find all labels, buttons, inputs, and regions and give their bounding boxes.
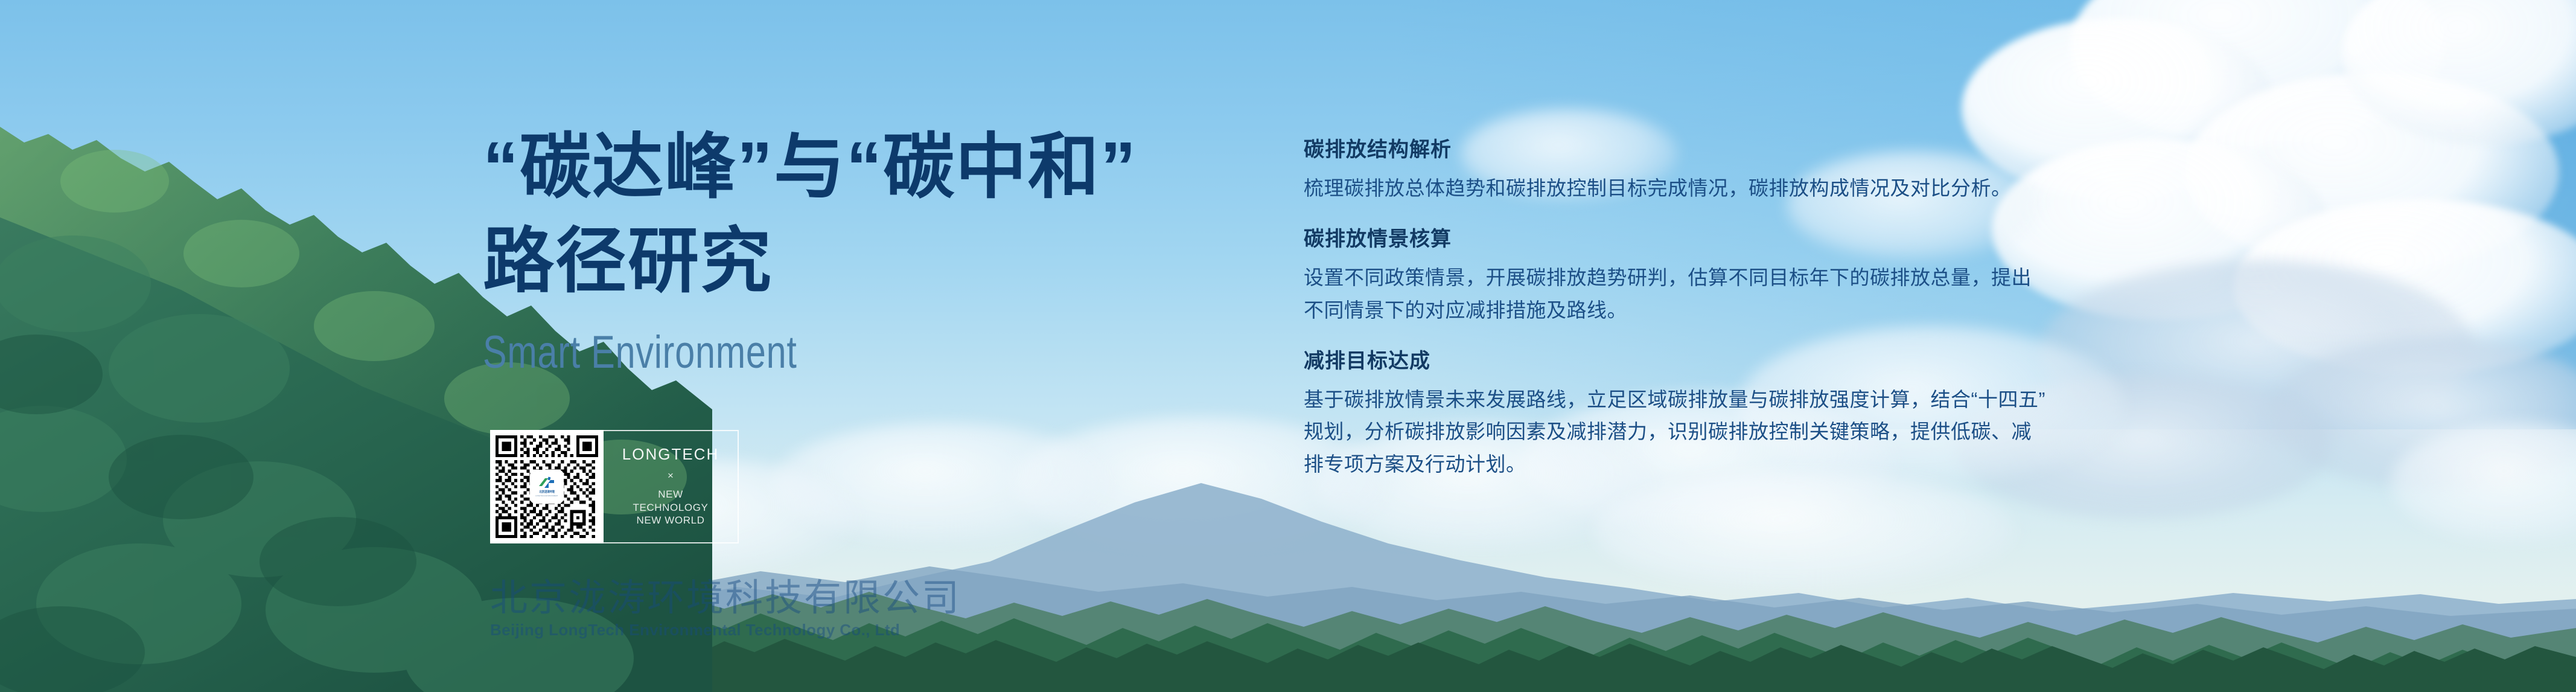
info-section-scenario-accounting: 碳排放情景核算 设置不同政策情景，开展碳排放趋势研判，估算不同目标年下的碳排放总… bbox=[1304, 227, 2209, 326]
info-body-line: 基于碳排放情景未来发展路线，立足区域碳排放量与碳排放强度计算，结合“十四五” bbox=[1304, 383, 2209, 415]
qr-center-logo: 北京泷涛环境 LONGTECH ENVIRONMENT bbox=[531, 471, 563, 502]
info-heading: 碳排放情景核算 bbox=[1304, 227, 2209, 252]
slogan-cross-icon: × bbox=[668, 470, 674, 481]
slogan-tagline-line: NEW bbox=[633, 488, 708, 501]
qr-logo-cn: 北京泷涛环境 bbox=[539, 491, 554, 494]
info-heading: 碳排放结构解析 bbox=[1304, 138, 2209, 162]
slogan-brand: LONGTECH bbox=[622, 446, 719, 462]
title-block: “碳达峰”与“碳中和” 路径研究 Smart Environment bbox=[483, 121, 1207, 376]
info-body: 梳理碳排放总体趋势和碳排放控制目标完成情况，碳排放构成情况及对比分析。 bbox=[1304, 172, 2209, 204]
qr-code[interactable]: 北京泷涛环境 LONGTECH ENVIRONMENT bbox=[490, 430, 604, 543]
longtech-logo-icon bbox=[538, 476, 556, 490]
slogan-panel: LONGTECH × NEW TECHNOLOGY NEW WORLD bbox=[604, 430, 739, 543]
info-body-line: 设置不同政策情景，开展碳排放趋势研判，估算不同目标年下的碳排放总量，提出 bbox=[1304, 261, 2209, 293]
info-column: 碳排放结构解析 梳理碳排放总体趋势和碳排放控制目标完成情况，碳排放构成情况及对比… bbox=[1304, 138, 2209, 480]
slogan-tagline: NEW TECHNOLOGY NEW WORLD bbox=[633, 488, 708, 527]
info-body-line: 梳理碳排放总体趋势和碳排放控制目标完成情况，碳排放构成情况及对比分析。 bbox=[1304, 172, 2209, 204]
banner-root: “碳达峰”与“碳中和” 路径研究 Smart Environment bbox=[0, 0, 2576, 692]
info-section-carbon-structure: 碳排放结构解析 梳理碳排放总体趋势和碳排放控制目标完成情况，碳排放构成情况及对比… bbox=[1304, 138, 2209, 204]
qr-logo-en: LONGTECH ENVIRONMENT bbox=[535, 495, 558, 497]
page-title-line-1: “碳达峰”与“碳中和” bbox=[483, 121, 1207, 215]
info-body: 基于碳排放情景未来发展路线，立足区域碳排放量与碳排放强度计算，结合“十四五” 规… bbox=[1304, 383, 2209, 480]
info-body-line: 排专项方案及行动计划。 bbox=[1304, 448, 2209, 480]
slogan-tagline-line: NEW WORLD bbox=[633, 514, 708, 527]
page-title-line-2: 路径研究 bbox=[483, 215, 1207, 309]
page-subtitle: Smart Environment bbox=[483, 330, 1048, 376]
info-body-line: 规划，分析碳排放影响因素及减排潜力，识别碳排放控制关键策略，提供低碳、减 bbox=[1304, 415, 2209, 447]
info-body: 设置不同政策情景，开展碳排放趋势研判，估算不同目标年下的碳排放总量，提出 不同情… bbox=[1304, 261, 2209, 326]
brand-panel: 北京泷涛环境 LONGTECH ENVIRONMENT LONGTECH × N… bbox=[490, 430, 739, 543]
slogan-tagline-line: TECHNOLOGY bbox=[633, 501, 708, 514]
info-body-line: 不同情景下的对应减排措施及路线。 bbox=[1304, 294, 2209, 326]
info-heading: 减排目标达成 bbox=[1304, 349, 2209, 374]
info-section-reduction-target: 减排目标达成 基于碳排放情景未来发展路线，立足区域碳排放量与碳排放强度计算，结合… bbox=[1304, 349, 2209, 480]
